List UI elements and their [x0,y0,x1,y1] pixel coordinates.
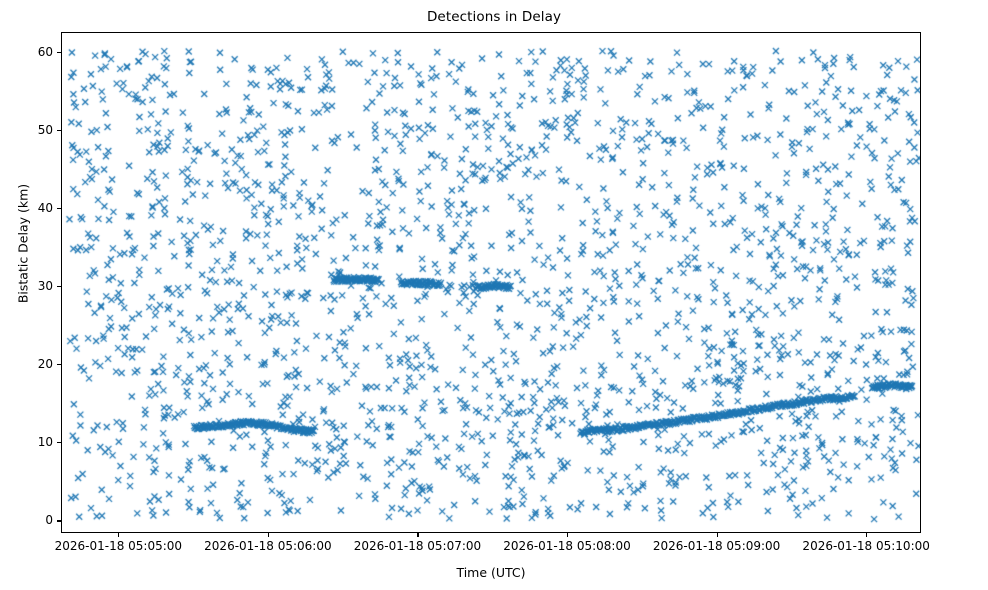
y-tick-label: 10 [38,435,53,449]
y-tick-mark [57,130,61,131]
y-tick-mark [57,442,61,443]
x-tick-label: 2026-01-18 05:08:00 [503,539,630,553]
x-axis-label: Time (UTC) [61,565,921,580]
x-tick-mark [417,533,418,537]
x-tick-mark [717,533,718,537]
page-title: Detections in Delay [0,9,988,25]
x-tick-mark [567,533,568,537]
y-axis-label: Bistatic Delay (km) [16,84,31,404]
y-tick-label: 30 [38,279,53,293]
y-tick-mark [57,286,61,287]
y-tick-label: 0 [45,513,53,527]
x-tick-label: 2026-01-18 05:06:00 [204,539,331,553]
x-tick-mark [268,533,269,537]
y-tick-mark [57,364,61,365]
x-tick-mark [866,533,867,537]
x-tick-label: 2026-01-18 05:10:00 [802,539,929,553]
y-tick-label: 40 [38,201,53,215]
y-tick-label: 50 [38,123,53,137]
x-tick-label: 2026-01-18 05:09:00 [653,539,780,553]
y-tick-mark [57,520,61,521]
scatter-plot-points [62,33,921,533]
y-tick-mark [57,208,61,209]
y-tick-label: 20 [38,357,53,371]
x-tick-label: 2026-01-18 05:07:00 [354,539,481,553]
x-tick-mark [118,533,119,537]
figure-canvas: Detections in Delay 0102030405060 2026-0… [0,0,988,590]
x-tick-label: 2026-01-18 05:05:00 [55,539,182,553]
y-tick-label: 60 [38,45,53,59]
y-tick-mark [57,52,61,53]
plot-axes-area [61,32,921,533]
